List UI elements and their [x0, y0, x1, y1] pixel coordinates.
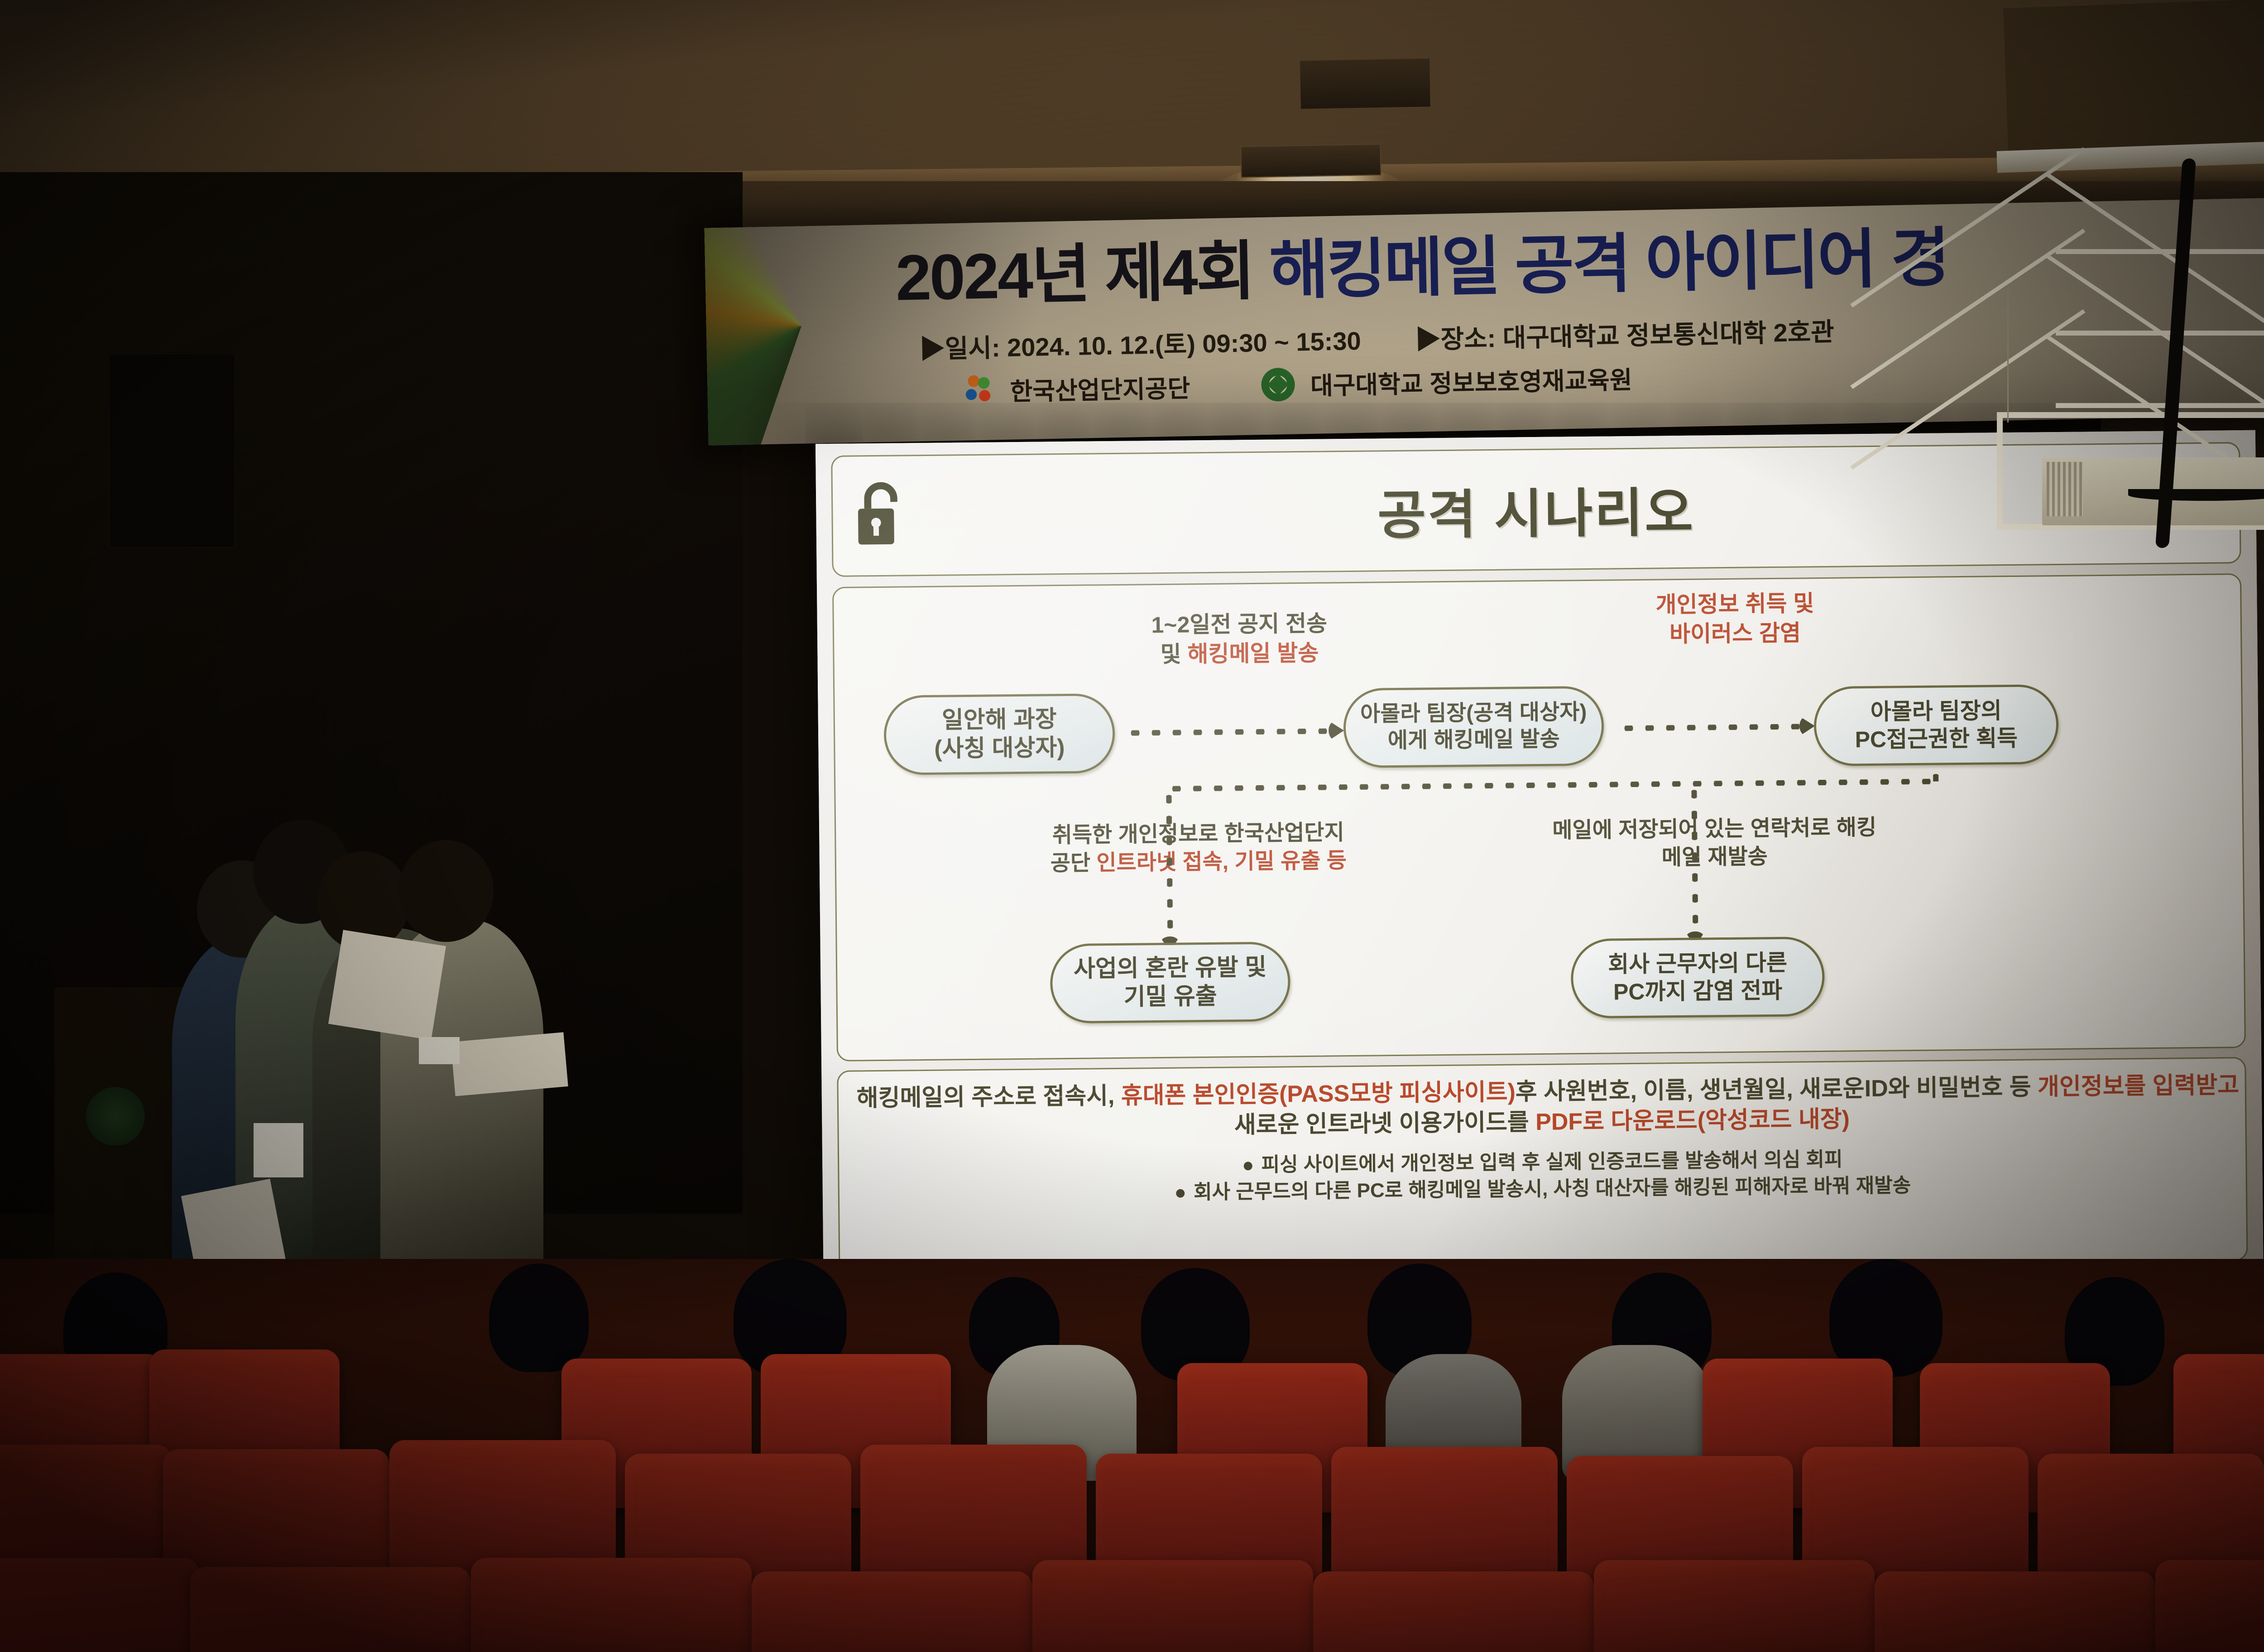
- footer-bullet-1-text: 피싱 사이트에서 개인정보 입력 후 실제 인증코드를 발송해서 의심 회피: [1261, 1148, 1842, 1176]
- organizer-one-label: 한국산업단지공단: [1010, 368, 1190, 408]
- audience-area: [0, 1259, 2264, 1652]
- slide-footer-notes: 해킹메일의 주소로 접속시, 휴대폰 본인인증(PASS모방 피싱사이트)후 사…: [837, 1057, 2248, 1274]
- presenter-script-paper: [328, 930, 446, 1040]
- banner-title-highlight: 해킹메일 공격 아이디어 경: [1269, 222, 1949, 307]
- open-padlock-icon: [854, 480, 908, 548]
- ceiling-vent: [1240, 144, 1381, 178]
- bullet-dot-icon: ●: [1174, 1179, 1186, 1206]
- arrow-down-to-box4: [1166, 789, 1173, 936]
- flow-box-2-line1: 아몰라 팀장(공격 대상자): [1360, 699, 1587, 728]
- flow-label-b-line1: 개인정보 취득 및: [1599, 588, 1871, 620]
- audience-seat: [1313, 1571, 1594, 1652]
- arrow-box1-to-box2: [1125, 728, 1329, 735]
- flow-box-5-line2: PC까지 감염 전파: [1608, 977, 1787, 1006]
- audience-seat: [1594, 1560, 1875, 1652]
- presenter-4-head: [398, 840, 494, 942]
- flow-label-a-line2-red: 해킹메일 발송: [1187, 640, 1319, 667]
- flow-label-c-line1: 취득한 개인정보로 한국산업단지: [994, 818, 1402, 850]
- flow-label-c-line2-red: 인트라넷 접속, 기밀 유출 등: [1096, 849, 1347, 875]
- flow-label-c-line2: 공단 인트라넷 접속, 기밀 유출 등: [995, 846, 1403, 879]
- auditorium-scene: 2024년 제4회 해킹메일 공격 아이디어 경 ▶일시: 2024. 10. …: [0, 0, 2264, 1652]
- banner-schedule: ▶일시: 2024. 10. 12.(토) 09:30 ~ 15:30: [919, 327, 1361, 364]
- audience-seat: [1875, 1571, 2155, 1652]
- flow-box-2[interactable]: 아몰라 팀장(공격 대상자) 에게 해킹메일 발송: [1343, 686, 1604, 768]
- flow-label-d-line2: 메일 재발송: [1506, 841, 1923, 874]
- flow-box-5-line1: 회사 근무자의 다른: [1608, 949, 1787, 979]
- flow-box-4-line1: 사업의 혼란 유발 및: [1074, 953, 1267, 984]
- audience-head: [489, 1263, 589, 1372]
- flow-label-b: 개인정보 취득 및 바이러스 감염: [1599, 588, 1871, 650]
- flow-label-c-line2-plain: 공단: [1050, 851, 1097, 876]
- audience-seat: [752, 1571, 1032, 1652]
- flow-box-1-line2: (사칭 대상자): [934, 734, 1065, 764]
- footer-line-1-red-a: 휴대폰 본인인증(PASS모방 피싱사이트): [1121, 1079, 1516, 1109]
- ceiling-vent: [1299, 58, 1431, 110]
- presenter-script-paper: [451, 1032, 568, 1096]
- flow-label-a: 1~2일전 공지 전송 및 해킹메일 발송: [1099, 608, 1380, 670]
- footer-bullet-2-text: 회사 근무드의 다른 PC로 해킹메일 발송시, 사칭 대산자를 해킹된 피해자…: [1194, 1175, 1911, 1204]
- banner-title-year: 2024년 제4회: [895, 235, 1270, 314]
- footer-line-1-part-a: 해킹메일의 주소로 접속시,: [857, 1083, 1122, 1112]
- presenter-name-badge: [419, 1037, 460, 1064]
- podium-seal-emblem: [86, 1087, 145, 1146]
- audience-seat: [0, 1558, 199, 1652]
- flow-label-a-line2: 및 해킹메일 발송: [1099, 638, 1380, 670]
- footer-line-2-red: PDF로 다운로드(악성코드 내장): [1535, 1106, 1850, 1135]
- connector-horizontal: [1166, 779, 1936, 792]
- wall-speaker: [109, 353, 235, 548]
- presenter-name-badge: [254, 1123, 303, 1177]
- audience-seat: [190, 1567, 471, 1652]
- flow-box-1-line1: 일안해 과장: [934, 705, 1065, 735]
- arrow-down-to-box5: [1691, 784, 1698, 932]
- kicox-logo-icon: [961, 373, 995, 407]
- ceiling-projector-rig: [1992, 145, 2264, 652]
- projector-vent: [2047, 462, 2083, 516]
- arrow-box2-to-box3: [1618, 724, 1799, 731]
- daegu-university-logo-icon: [1261, 367, 1295, 401]
- flow-box-5[interactable]: 회사 근무자의 다른 PC까지 감염 전파: [1571, 936, 1825, 1018]
- flow-box-4[interactable]: 사업의 혼란 유발 및 기밀 유출: [1050, 941, 1291, 1023]
- footer-line-1-part-b: 후 사원번호, 이름, 생년월일, 새로운ID와 비밀번호 등: [1516, 1074, 2038, 1105]
- flow-label-b-line2: 바이러스 감염: [1599, 618, 1871, 650]
- flow-label-c: 취득한 개인정보로 한국산업단지 공단 인트라넷 접속, 기밀 유출 등: [994, 818, 1402, 879]
- footer-bullet-list: ●피싱 사이트에서 개인정보 입력 후 실제 인증코드를 발송해서 의심 회피 …: [857, 1143, 2228, 1210]
- flow-label-a-line2-plain: 및: [1160, 641, 1187, 667]
- bullet-dot-icon: ●: [1242, 1152, 1254, 1179]
- banner-swoosh-graphic: [705, 197, 982, 445]
- flow-box-3-line2: PC접근권한 획득: [1855, 725, 2018, 754]
- banner-location: ▶장소: 대구대학교 정보통신대학 2호관: [1415, 317, 1834, 354]
- slide-title: 공격 시나리오: [1377, 470, 1695, 549]
- flow-box-3-line1: 아몰라 팀장의: [1855, 697, 2018, 726]
- flow-label-d: 메일에 저장되어 있는 연락처로 해킹 메일 재발송: [1506, 813, 1923, 874]
- audience-seat: [471, 1558, 752, 1652]
- audience-seat: [2155, 1560, 2264, 1652]
- flow-box-2-line2: 에게 해킹메일 발송: [1360, 726, 1587, 754]
- footer-line-1-red-b: 개인정보를 입력받고: [2038, 1072, 2240, 1100]
- flow-label-d-line1: 메일에 저장되어 있는 연락처로 해킹: [1506, 813, 1923, 845]
- audience-seat: [1032, 1560, 1313, 1652]
- flow-label-a-line1: 1~2일전 공지 전송: [1099, 608, 1380, 640]
- organizer-two-label: 대구대학교 정보보호영재교육원: [1310, 360, 1632, 402]
- flow-box-1[interactable]: 일안해 과장 (사칭 대상자): [883, 693, 1115, 775]
- flow-box-4-line2: 기밀 유출: [1074, 982, 1267, 1013]
- footer-line-2-part-a: 새로운 인트라넷 이용가이드를: [1234, 1109, 1536, 1138]
- rig-scissor-lift: [2047, 163, 2264, 408]
- flow-box-3[interactable]: 아몰라 팀장의 PC접근권한 획득: [1813, 684, 2059, 766]
